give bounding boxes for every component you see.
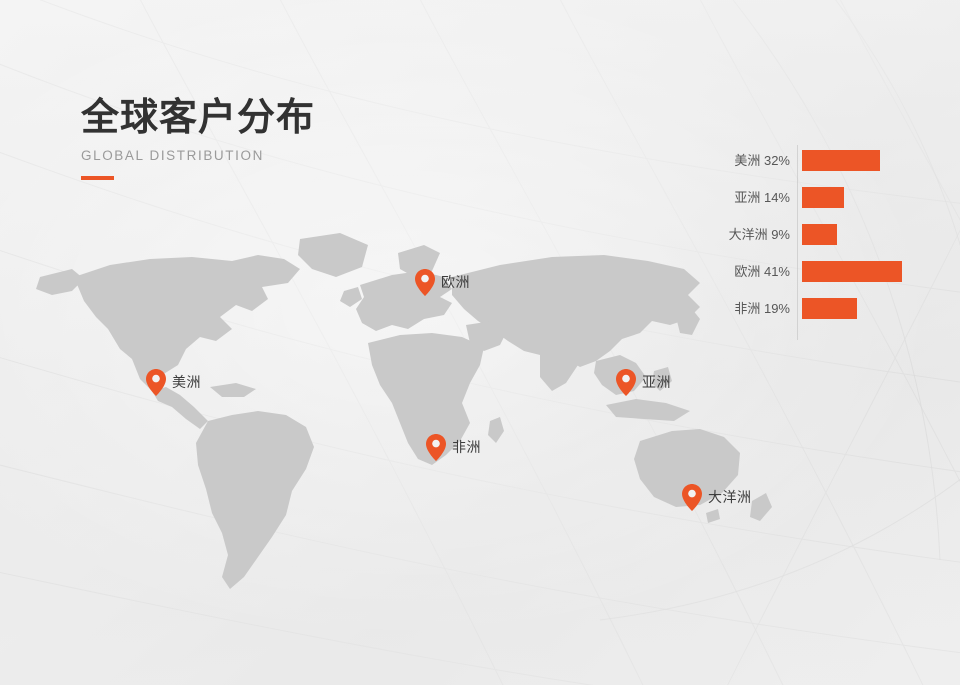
chart-row-label: 亚洲 14% [700,191,802,204]
distribution-bar-chart: 美洲 32% 亚洲 14% 大洋洲 9% 欧洲 41% 非洲 19% [700,150,915,319]
chart-row[interactable]: 欧洲 41% [700,261,915,282]
location-pin-icon [146,369,166,396]
chart-bar [802,150,880,171]
chart-bar-track [802,187,915,208]
chart-bar [802,224,837,245]
chart-bar-track [802,298,915,319]
chart-row[interactable]: 大洋洲 9% [700,224,915,245]
chart-bar-track [802,224,915,245]
chart-bar-track [802,150,915,171]
page-subtitle: GLOBAL DISTRIBUTION [81,148,315,164]
chart-axis-line [797,145,798,340]
title-underline-rule [81,176,114,180]
landmass-madagascar [488,417,504,443]
chart-row[interactable]: 亚洲 14% [700,187,915,208]
chart-bar-track [802,261,915,282]
map-marker-label: 大洋洲 [708,490,752,504]
landmass-new-zealand [750,493,772,521]
landmass-south-america [196,411,314,589]
chart-row[interactable]: 非洲 19% [700,298,915,319]
chart-bar [802,261,902,282]
location-pin-icon [415,269,435,296]
landmass-uk [340,287,362,307]
location-pin-icon [426,434,446,461]
landmass-tasmania [706,509,720,523]
chart-row-label: 大洋洲 9% [700,228,802,241]
title-block: 全球客户分布 GLOBAL DISTRIBUTION [81,96,315,180]
map-marker-label: 欧洲 [441,275,470,289]
chart-row-label: 美洲 32% [700,154,802,167]
landmass-asia [452,255,700,367]
map-marker-ouzhou[interactable]: 欧洲 [415,269,470,296]
chart-row-label: 欧洲 41% [700,265,802,278]
map-marker-feizhou[interactable]: 非洲 [426,434,481,461]
page-title: 全球客户分布 [81,96,315,140]
map-marker-label: 美洲 [172,375,201,389]
map-marker-label: 亚洲 [642,375,671,389]
chart-bar [802,298,857,319]
chart-bar [802,187,844,208]
location-pin-icon [682,484,702,511]
map-marker-yazhou[interactable]: 亚洲 [616,369,671,396]
map-marker-meizhou[interactable]: 美洲 [146,369,201,396]
chart-row-label: 非洲 19% [700,302,802,315]
location-pin-icon [616,369,636,396]
landmass-indonesia [606,399,690,421]
landmass-greenland [298,233,368,277]
chart-row[interactable]: 美洲 32% [700,150,915,171]
world-map [0,225,800,625]
map-marker-label: 非洲 [452,440,481,454]
landmass-caribbean [210,383,256,397]
map-marker-dayangzhou[interactable]: 大洋洲 [682,484,752,511]
landmass-alaska [36,269,84,295]
slide-canvas: 全球客户分布 GLOBAL DISTRIBUTION [0,0,960,685]
